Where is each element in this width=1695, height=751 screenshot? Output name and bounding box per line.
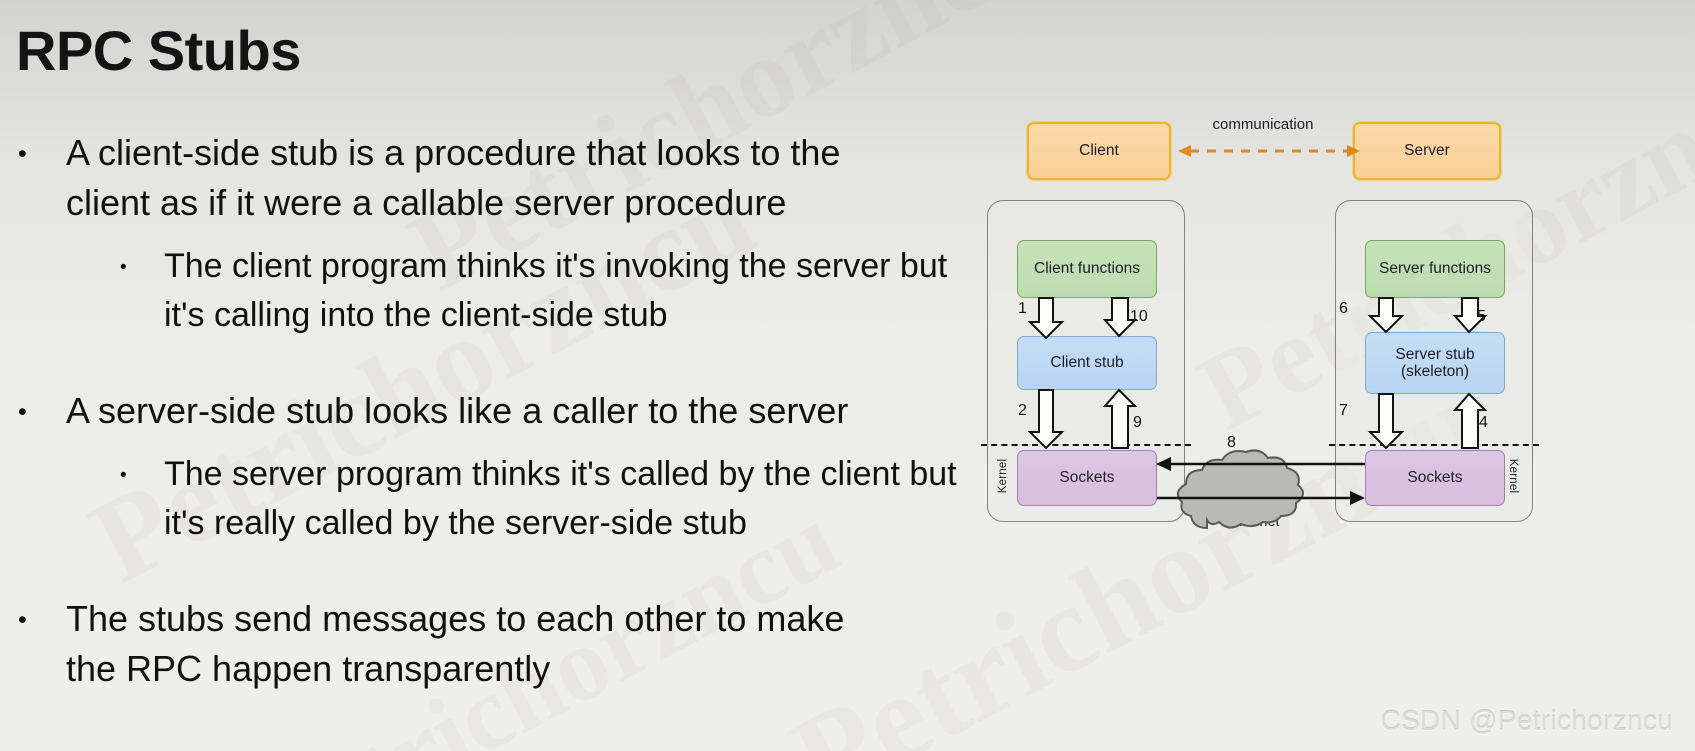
- client-endpoint-box[interactable]: Client: [1027, 122, 1171, 180]
- list-item: • The client program thinks it's invokin…: [120, 242, 970, 340]
- list-item-text: A server-side stub looks like a caller t…: [66, 386, 848, 436]
- step-number-10: 10: [1130, 308, 1148, 326]
- server-kernel-label: Kernel: [1507, 456, 1519, 496]
- bullet-dot-icon: •: [18, 128, 66, 167]
- bullet-list: • A client-side stub is a procedure that…: [10, 128, 970, 694]
- list-item-text: A client-side stub is a procedure that l…: [66, 128, 896, 228]
- step-number-8: 8: [1227, 434, 1236, 452]
- spacer: [10, 436, 970, 450]
- step-number-7: 7: [1339, 402, 1348, 420]
- step-number-3: 3: [1227, 476, 1236, 494]
- list-item-text: The client program thinks it's invoking …: [164, 242, 970, 340]
- step-number-5: 5: [1477, 308, 1486, 326]
- attribution-watermark: CSDN @Petrichorzncu: [1381, 705, 1673, 737]
- communication-dashed-arrow: [1178, 145, 1360, 157]
- client-sockets-box[interactable]: Sockets: [1017, 450, 1157, 506]
- page-title: RPC Stubs: [16, 18, 301, 83]
- server-stub-label-line1: Server stub: [1395, 346, 1474, 363]
- step-number-9: 9: [1133, 414, 1142, 432]
- spacer: [10, 548, 970, 594]
- client-sockets-label: Sockets: [1059, 469, 1114, 486]
- server-stub-box[interactable]: Server stub (skeleton): [1365, 332, 1505, 394]
- step-number-4: 4: [1479, 414, 1488, 432]
- step-number-1: 1: [1018, 300, 1027, 318]
- client-functions-label: Client functions: [1034, 260, 1140, 277]
- server-endpoint-label: Server: [1404, 142, 1450, 159]
- client-endpoint-label: Client: [1079, 142, 1119, 159]
- list-item: • A server-side stub looks like a caller…: [18, 386, 970, 436]
- server-kernel-divider: [1329, 444, 1539, 446]
- list-item: • The server program thinks it's called …: [120, 450, 970, 548]
- spacer: [10, 228, 970, 242]
- list-item-text: The server program thinks it's called by…: [164, 450, 970, 548]
- client-stub-box[interactable]: Client stub: [1017, 336, 1157, 390]
- list-item: • A client-side stub is a procedure that…: [18, 128, 970, 228]
- client-kernel-label: Kernel: [997, 456, 1009, 496]
- client-kernel-divider: [981, 444, 1191, 446]
- step-number-6: 6: [1339, 300, 1348, 318]
- arrow-step-8-left: [1156, 457, 1365, 471]
- client-functions-box[interactable]: Client functions: [1017, 240, 1157, 298]
- list-item: • The stubs send messages to each other …: [18, 594, 970, 694]
- server-stub-label-line2: (skeleton): [1401, 363, 1469, 380]
- list-item-text: The stubs send messages to each other to…: [66, 594, 896, 694]
- bullet-dot-icon: •: [120, 242, 164, 277]
- server-functions-box[interactable]: Server functions: [1365, 240, 1505, 298]
- server-functions-label: Server functions: [1379, 260, 1491, 277]
- client-stub-label: Client stub: [1050, 354, 1123, 371]
- arrow-step-3-right: [1157, 491, 1365, 505]
- spacer: [10, 340, 970, 386]
- server-endpoint-box[interactable]: Server: [1353, 122, 1501, 180]
- communication-label: communication: [1183, 116, 1343, 133]
- server-sockets-label: Sockets: [1407, 469, 1462, 486]
- rpc-stubs-diagram: Client Server communication Client funct…: [975, 104, 1535, 544]
- internet-cloud-label: Internet: [1207, 514, 1303, 530]
- bullet-dot-icon: •: [18, 594, 66, 633]
- bullet-dot-icon: •: [120, 450, 164, 485]
- step-number-2: 2: [1018, 402, 1027, 420]
- server-sockets-box[interactable]: Sockets: [1365, 450, 1505, 506]
- bullet-dot-icon: •: [18, 386, 66, 425]
